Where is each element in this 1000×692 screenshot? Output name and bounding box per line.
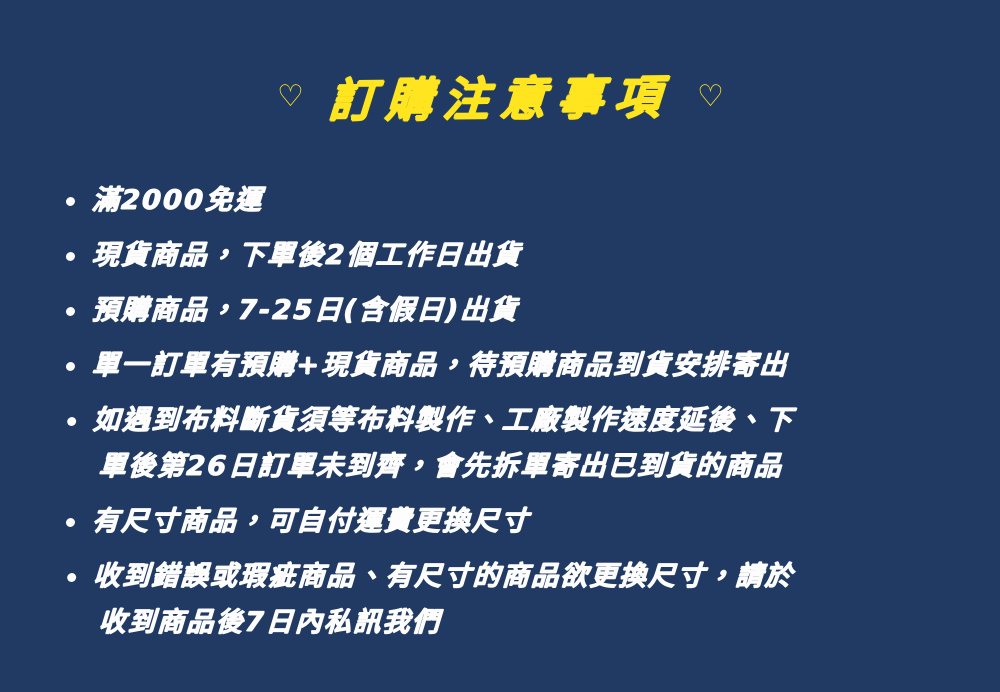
notice-text-line2: 收到商品後7日內私訊我們 <box>98 600 968 646</box>
bullet-icon <box>67 573 76 582</box>
bullet-icon <box>66 197 75 206</box>
poster-title: ♡ 訂購注意事項 ♡ <box>0 66 1000 132</box>
list-item: 如遇到布料斷貨須等布料製作、工廠製作速度延後、下 單後第26日訂單未到齊，會先拆… <box>56 398 971 490</box>
notice-text-line1: 如遇到布料斷貨須等布料製作、工廠製作速度延後、下 <box>92 405 794 436</box>
bullet-icon <box>67 417 76 426</box>
bullet-icon <box>66 307 75 316</box>
list-item: 滿2000免運 <box>57 178 969 224</box>
heart-icon-left: ♡ <box>277 84 303 110</box>
notice-poster: ♡ 訂購注意事項 ♡ 滿2000免運 現貨商品，下單後2個工作日出貨 預購商品，… <box>0 0 1000 692</box>
bullet-icon <box>66 518 75 527</box>
list-item: 現貨商品，下單後2個工作日出貨 <box>57 233 969 279</box>
heart-icon-right: ♡ <box>697 84 723 110</box>
notice-text-line1: 滿2000免運 <box>91 185 264 216</box>
list-item: 單一訂單有預購+現貨商品，待預購商品到貨安排寄出 <box>57 343 969 389</box>
notice-list: 滿2000免運 現貨商品，下單後2個工作日出貨 預購商品，7-25日(含假日)出… <box>58 178 968 655</box>
notice-text-line1: 預購商品，7-25日(含假日)出貨 <box>91 295 519 326</box>
list-item: 收到錯誤或瑕疵商品、有尺寸的商品欲更換尺寸，請於 收到商品後7日內私訊我們 <box>56 554 971 646</box>
notice-text-line2: 單後第26日訂單未到齊，會先拆單寄出已到貨的商品 <box>98 444 968 490</box>
bullet-icon <box>66 362 75 371</box>
list-item: 預購商品，7-25日(含假日)出貨 <box>57 288 969 334</box>
notice-text-line1: 現貨商品，下單後2個工作日出貨 <box>91 240 522 271</box>
notice-text-line1: 有尺寸商品，可自付運費更換尺寸 <box>91 506 531 537</box>
list-item: 有尺寸商品，可自付運費更換尺寸 <box>57 499 969 545</box>
notice-text-line1: 單一訂單有預購+現貨商品，待預購商品到貨安排寄出 <box>91 350 789 381</box>
page-title: 訂購注意事項 <box>327 71 672 127</box>
notice-text-line1: 收到錯誤或瑕疵商品、有尺寸的商品欲更換尺寸，請於 <box>92 561 794 592</box>
bullet-icon <box>66 252 75 261</box>
